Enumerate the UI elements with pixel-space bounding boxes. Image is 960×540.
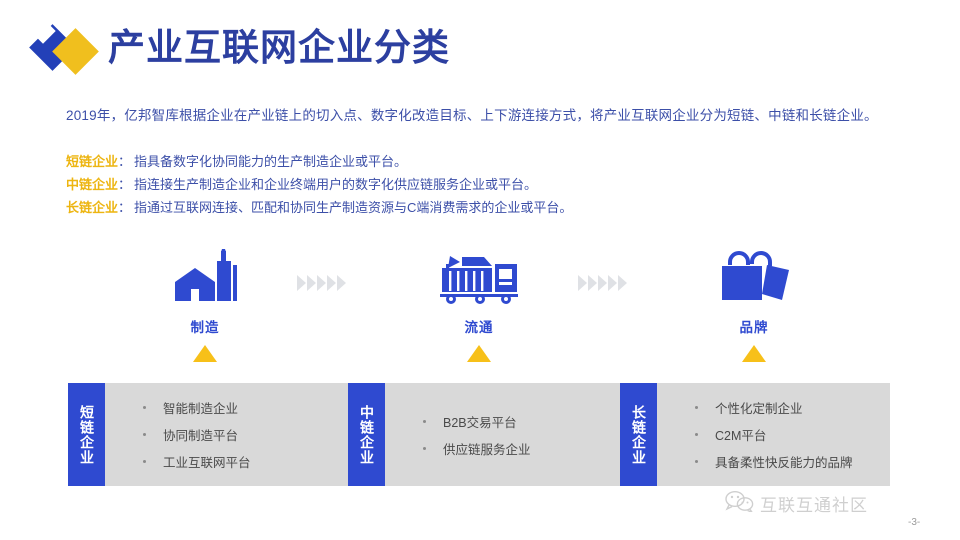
chevron-right-icon [327, 275, 336, 291]
definition-colon: ： [118, 200, 131, 215]
triangle-up-marker-icon [742, 345, 766, 362]
list-item: 智能制造企业 [143, 398, 251, 417]
bullet-dot-icon [143, 433, 146, 436]
bullet-group-long-chain: 个性化定制企业 C2M平台 具备柔性快反能力的品牌 [695, 383, 853, 486]
page-number: -3- [908, 517, 920, 528]
list-item-label: 智能制造企业 [163, 398, 238, 417]
list-item: 工业互联网平台 [143, 452, 251, 471]
value-chain-flow: 制造 [0, 248, 960, 358]
list-item-label: 供应链服务企业 [443, 439, 531, 458]
chevron-right-icon [307, 275, 316, 291]
bullet-group-mid-chain: B2B交易平台 供应链服务企业 [423, 383, 531, 486]
intro-paragraph: 2019年，亿邦智库根据企业在产业链上的切入点、数字化改造目标、上下游连接方式，… [66, 104, 878, 124]
definition-list: 短链企业：指具备数字化协同能力的生产制造企业或平台。 中链企业：指连接生产制造企… [66, 150, 572, 219]
list-item-label: 工业互联网平台 [163, 452, 251, 471]
triangle-up-marker-icon [467, 345, 491, 362]
list-item: B2B交易平台 [423, 412, 531, 431]
definition-colon: ： [118, 177, 131, 192]
bullet-dot-icon [423, 447, 426, 450]
definition-row: 短链企业：指具备数字化协同能力的生产制造企业或平台。 [66, 150, 572, 173]
watermark-text: 互联互通社区 [760, 491, 868, 516]
chevron-right-icon [297, 275, 306, 291]
flow-stage-label: 制造 [130, 316, 280, 336]
list-item: 具备柔性快反能力的品牌 [695, 452, 853, 471]
factory-icon [130, 248, 280, 310]
category-label-mid-chain: 中链企业 [348, 383, 385, 486]
chevron-right-icon [317, 275, 326, 291]
category-band: 短链企业 智能制造企业 协同制造平台 工业互联网平台 中链企业 B2B交易平台 … [68, 383, 890, 486]
double-diamond-logo-icon [34, 22, 100, 74]
flow-connector-2 [578, 275, 627, 291]
definition-key: 中链企业 [66, 177, 118, 192]
chevron-right-icon [578, 275, 587, 291]
bullet-dot-icon [695, 433, 698, 436]
bullet-dot-icon [423, 420, 426, 423]
wechat-icon [724, 490, 754, 517]
definition-value: 指连接生产制造企业和企业终端用户的数字化供应链服务企业或平台。 [134, 177, 537, 192]
watermark: 互联互通社区 [724, 490, 868, 517]
definition-colon: ： [118, 154, 131, 169]
list-item: 个性化定制企业 [695, 398, 853, 417]
definition-value: 指通过互联网连接、匹配和协同生产制造资源与C端消费需求的企业或平台。 [134, 200, 572, 215]
bullet-dot-icon [143, 406, 146, 409]
bullet-dot-icon [143, 460, 146, 463]
flow-stage-label: 品牌 [679, 316, 829, 336]
flow-stage-brand: 品牌 [679, 248, 829, 362]
definition-row: 长链企业：指通过互联网连接、匹配和协同生产制造资源与C端消费需求的企业或平台。 [66, 196, 572, 219]
list-item: 供应链服务企业 [423, 439, 531, 458]
chevron-right-icon [618, 275, 627, 291]
definition-key: 长链企业 [66, 200, 118, 215]
truck-icon [404, 248, 554, 310]
shopping-bags-icon [679, 248, 829, 310]
category-label-long-chain: 长链企业 [620, 383, 657, 486]
definition-value: 指具备数字化协同能力的生产制造企业或平台。 [134, 154, 407, 169]
definition-key: 短链企业 [66, 154, 118, 169]
chevron-right-icon [608, 275, 617, 291]
chevron-right-icon [337, 275, 346, 291]
list-item-label: B2B交易平台 [443, 412, 517, 431]
chevron-right-icon [588, 275, 597, 291]
flow-stage-label: 流通 [404, 316, 554, 336]
list-item: C2M平台 [695, 425, 853, 444]
flow-stage-circulation: 流通 [404, 248, 554, 362]
category-label-short-chain: 短链企业 [68, 383, 105, 486]
definition-row: 中链企业：指连接生产制造企业和企业终端用户的数字化供应链服务企业或平台。 [66, 173, 572, 196]
page-header: 产业互联网企业分类 [34, 18, 450, 78]
list-item-label: 协同制造平台 [163, 425, 238, 444]
chevron-right-icon [598, 275, 607, 291]
page-title: 产业互联网企业分类 [108, 30, 450, 67]
bullet-dot-icon [695, 406, 698, 409]
flow-connector-1 [297, 275, 346, 291]
bullet-dot-icon [695, 460, 698, 463]
list-item-label: 具备柔性快反能力的品牌 [715, 452, 853, 471]
list-item-label: 个性化定制企业 [715, 398, 803, 417]
flow-stage-manufacturing: 制造 [130, 248, 280, 362]
list-item: 协同制造平台 [143, 425, 251, 444]
triangle-up-marker-icon [193, 345, 217, 362]
list-item-label: C2M平台 [715, 425, 766, 444]
bullet-group-short-chain: 智能制造企业 协同制造平台 工业互联网平台 [143, 383, 251, 486]
